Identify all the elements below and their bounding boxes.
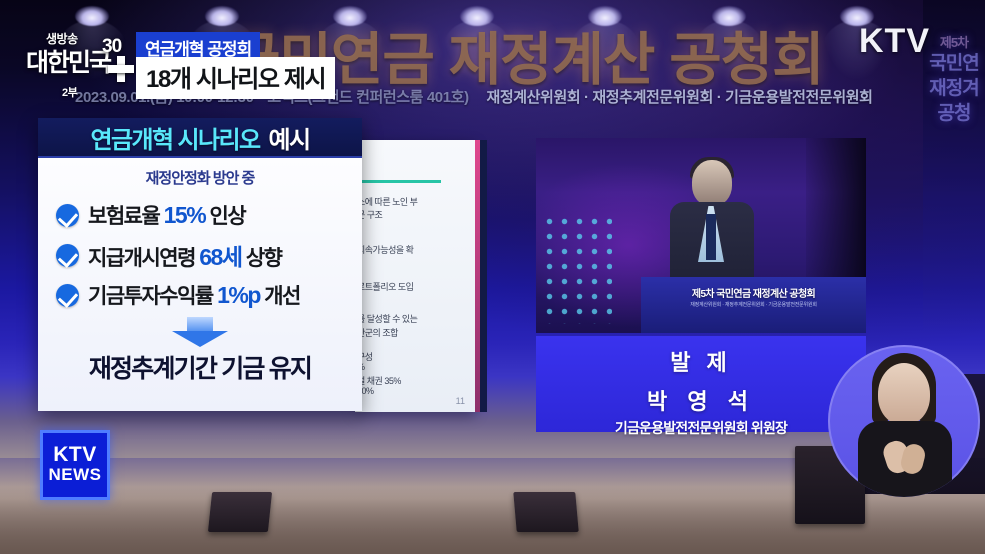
stage-organizers: 재정계산위원회 · 재정추계전문위원회 · 기금운용발전전문위원회 <box>486 89 872 106</box>
speaker-title: 기금운용발전전문위원회 위원장 <box>536 418 866 438</box>
list-item: 보험료율 15% 인상 <box>56 195 362 235</box>
slide-line: 를 달성할 수 있는 <box>357 312 417 325</box>
check-circle-icon <box>56 204 79 227</box>
info-header-plain: 예시 <box>268 120 309 155</box>
info-panel-body: 재정안정화 방안 중 보험료율 15% 인상 지급개시연령 68세 상향 기금투… <box>38 158 362 411</box>
side-panel-line2: 국민연 <box>923 51 985 76</box>
info-panel-conclusion: 재정추계기간 기금 유지 <box>38 349 362 385</box>
speaker-name: 박 영 석 <box>536 384 866 416</box>
info-panel-subtitle: 재정안정화 방안 중 <box>38 167 362 188</box>
bullet-text: 기금투자수익률 1%p 개선 <box>88 280 300 310</box>
slide-line: 소에 따른 노인 부 <box>357 195 417 208</box>
presentation-slide-document: 소에 따른 노인 부 문 구조 지속가능성을 확 르트폴리오 도입 를 달성할 … <box>355 140 475 412</box>
program-number: 30 <box>102 36 121 58</box>
podium-banner: 제5차 국민연금 재정계산 공청회 재정계산위원회 · 재정추계전문위원회 · … <box>641 277 866 333</box>
sign-language-interpreter <box>828 345 980 497</box>
down-arrow-icon <box>172 317 228 347</box>
chyron-headline: 18개 시나리오 제시 <box>136 57 335 99</box>
slide-line: 르트폴리오 도입 <box>357 280 413 293</box>
info-header-highlight: 연금개혁 시나리오 <box>91 120 260 155</box>
program-part-label: 2부 <box>62 84 77 100</box>
info-graphic-panel: 연금개혁 시나리오 예시 재정안정화 방안 중 보험료율 15% 인상 지급개시… <box>38 118 362 411</box>
info-panel-header: 연금개혁 시나리오 예시 <box>38 118 362 158</box>
program-title: 대한민국 <box>26 43 110 79</box>
bullet-text: 지급개시연령 68세 상향 <box>88 238 282 272</box>
slide-edge-shadow <box>480 140 487 412</box>
stage-monitor-speaker <box>208 492 272 532</box>
side-panel-line3: 재정겨 <box>923 76 985 101</box>
side-panel-line4: 공청 <box>923 101 985 126</box>
list-item: 지급개시연령 68세 상향 <box>56 235 362 275</box>
ktv-news-badge: KTV NEWS <box>40 430 110 500</box>
broadcast-screen: 국민연금 재정계산 공청회 2023.09.01.(금) 10:00-12:30… <box>0 0 985 554</box>
slide-line: 지속가능성을 확 <box>357 243 413 256</box>
badge-line-2: NEWS <box>49 465 102 485</box>
bullet-text: 보험료율 15% 인상 <box>88 200 245 230</box>
podium-banner-title: 제5차 국민연금 재정계산 공청회 <box>641 285 866 300</box>
backdrop-dot-pattern <box>542 214 612 324</box>
live-video-inset: 제5차 국민연금 재정계산 공청회 재정계산위원회 · 재정추계전문위원회 · … <box>536 138 866 333</box>
check-circle-icon <box>56 244 79 267</box>
arrow-container <box>38 317 362 347</box>
plus-icon <box>108 56 134 82</box>
badge-line-1: KTV <box>53 444 97 465</box>
info-bullet-list: 보험료율 15% 인상 지급개시연령 68세 상향 기금투자수익률 1%p 개선 <box>38 195 362 315</box>
speaker-role: 발 제 <box>536 345 866 377</box>
network-watermark: KTV <box>859 22 930 61</box>
speaker-caption: 발 제 박 영 석 기금운용발전전문위원회 위원장 <box>536 336 866 432</box>
side-panel-line1: 제5차 <box>923 34 985 51</box>
backdrop-side-panel: 제5차 국민연 재정겨 공청 <box>923 0 985 330</box>
program-logo: 생방송 대한민국 30 2부 <box>26 28 136 104</box>
slide-line: 산군의 조합 <box>357 326 398 339</box>
slide-rule <box>355 180 441 183</box>
list-item: 기금투자수익률 1%p 개선 <box>56 275 362 315</box>
podium-banner-subtitle: 재정계산위원회 · 재정추계전문위원회 · 기금운용발전전문위원회 <box>641 301 866 308</box>
check-circle-icon <box>56 284 79 307</box>
slide-page-number: 11 <box>456 396 465 406</box>
stage-monitor-speaker <box>513 492 578 532</box>
